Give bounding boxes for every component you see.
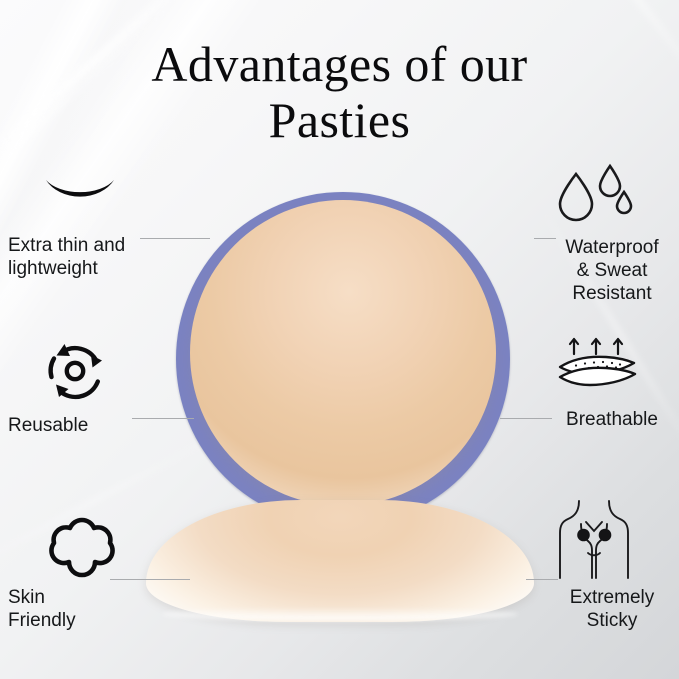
feature-waterproof[interactable]: Waterproof & Sweat Resistant (548, 164, 676, 305)
feature-breathable[interactable]: Breathable (548, 336, 676, 431)
connector-breathable (500, 418, 552, 419)
pastie-lying-flat (146, 500, 534, 622)
infographic-canvas: Advantages of our Pasties Extra thin and… (0, 0, 679, 679)
water-drops-icon (548, 164, 676, 226)
recycle-arrows-icon (42, 340, 148, 402)
feature-label-skin-friendly: Skin Friendly (8, 586, 148, 632)
feature-label-reusable: Reusable (8, 414, 148, 437)
feature-reusable[interactable]: Reusable (8, 340, 148, 437)
pastie-front-disc (190, 200, 496, 506)
cloud-soft-icon (42, 518, 148, 576)
fabric-layers-airflow-icon (548, 336, 676, 398)
feature-label-waterproof: Waterproof & Sweat Resistant (548, 236, 676, 305)
feature-extremely-sticky[interactable]: Extremely Sticky (548, 500, 676, 632)
feature-label-extremely-sticky: Extremely Sticky (548, 586, 676, 632)
feature-label-extra-thin: Extra thin and lightweight (8, 234, 158, 280)
torso-pasties-icon (548, 500, 676, 578)
feature-skin-friendly[interactable]: Skin Friendly (8, 518, 148, 632)
feature-extra-thin[interactable]: Extra thin and lightweight (8, 176, 158, 280)
crescent-thin-icon (42, 176, 158, 220)
feature-label-breathable: Breathable (548, 408, 676, 431)
